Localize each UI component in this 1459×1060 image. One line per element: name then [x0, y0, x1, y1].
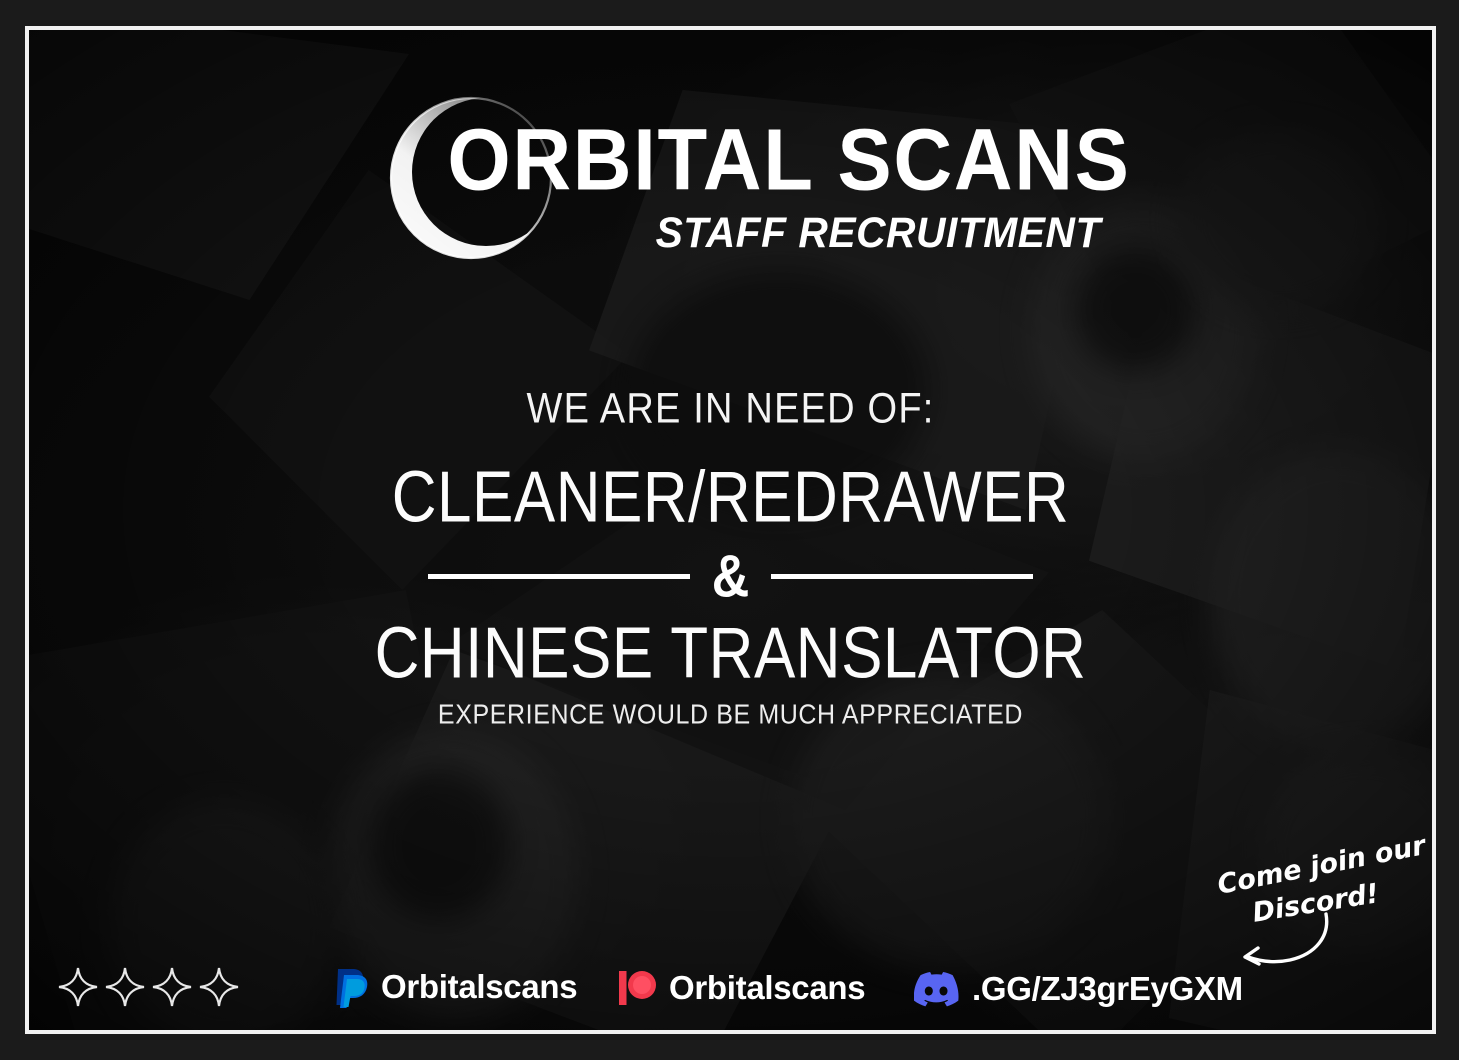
logo-primary-text: ORBITAL SCANS — [393, 120, 1185, 200]
footer-bar: Orbitalscans Orbitalscans .GG/ZJ3grEyGXM — [29, 942, 1432, 1016]
patreon-icon — [617, 968, 657, 1008]
role-cleaner-redrawer: CLEANER/REDRAWER — [29, 456, 1432, 538]
logo-header: ORBITAL SCANS STAFF RECRUITMENT — [29, 82, 1432, 272]
paypal-label: Orbitalscans — [381, 968, 577, 1006]
role-separator-row: & — [29, 546, 1432, 606]
sparkle-group — [57, 966, 240, 1008]
role-chinese-translator: CHINESE TRANSLATOR — [29, 612, 1432, 694]
need-headline: WE ARE IN NEED OF: — [29, 385, 1432, 433]
divider-left — [428, 574, 690, 579]
patreon-link[interactable]: Orbitalscans — [617, 968, 865, 1008]
four-point-star-icon — [57, 966, 99, 1008]
ampersand: & — [690, 547, 772, 606]
experience-note: EXPERIENCE WOULD BE MUCH APPRECIATED — [29, 700, 1432, 732]
four-point-star-icon — [151, 966, 193, 1008]
paypal-link[interactable]: Orbitalscans — [335, 966, 577, 1008]
discord-icon — [914, 971, 960, 1007]
logo-secondary-text: STAFF RECRUITMENT — [422, 210, 1156, 258]
art-figure — [369, 770, 509, 920]
logo-text-stack: ORBITAL SCANS STAFF RECRUITMENT — [429, 120, 1149, 255]
poster-frame: ORBITAL SCANS STAFF RECRUITMENT WE ARE I… — [25, 26, 1436, 1034]
divider-right — [771, 574, 1033, 579]
paypal-icon — [335, 966, 369, 1008]
discord-label: .GG/ZJ3grEyGXM — [972, 970, 1243, 1008]
four-point-star-icon — [104, 966, 146, 1008]
patreon-label: Orbitalscans — [669, 969, 865, 1007]
discord-link[interactable]: .GG/ZJ3grEyGXM — [914, 970, 1243, 1008]
poster-root: ORBITAL SCANS STAFF RECRUITMENT WE ARE I… — [0, 0, 1459, 1060]
four-point-star-icon — [198, 966, 240, 1008]
